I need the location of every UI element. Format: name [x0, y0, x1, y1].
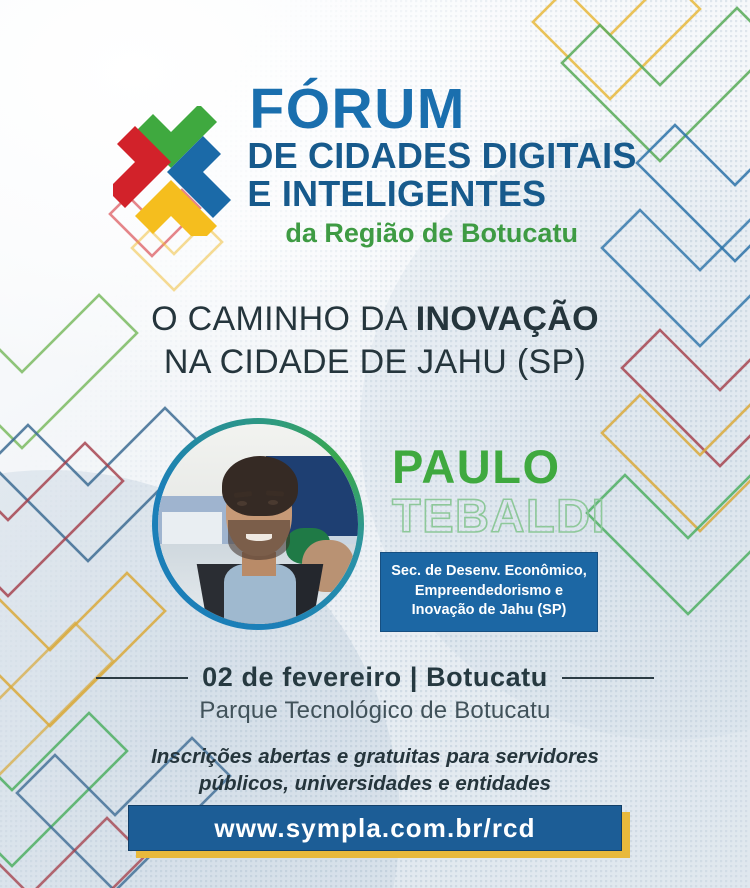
page-title: O CAMINHO DA INOVAÇÃO NA CIDADE DE JAHU … [0, 298, 750, 384]
wordmark: FÓRUM DE CIDADES DIGITAIS E INTELIGENTES… [247, 82, 636, 251]
registration-note: Inscrições abertas e gratuitas para serv… [0, 744, 750, 797]
headline-line-2: NA CIDADE DE JAHU (SP) [0, 341, 750, 384]
headline-emphasis: INOVAÇÃO [416, 300, 599, 338]
registration-note-line-2: públicos, universidades e entidades [0, 771, 750, 798]
brand-header: FÓRUM DE CIDADES DIGITAIS E INTELIGENTES… [0, 82, 750, 251]
headline-line-1: O CAMINHO DA INOVAÇÃO [0, 298, 750, 341]
wordmark-line2: DE CIDADES DIGITAIS [247, 137, 636, 176]
event-date-location: 02 de fevereiro | Botucatu [202, 662, 548, 693]
divider-left [96, 677, 188, 679]
divider-right [562, 677, 654, 679]
avatar [152, 418, 364, 630]
role-line-2: Empreendedorismo e [389, 582, 589, 602]
registration-url-button[interactable]: www.sympla.com.br/rcd [128, 805, 622, 851]
wordmark-forum: FÓRUM [249, 82, 465, 137]
speaker-first-name: PAULO [392, 444, 722, 490]
headline-prefix: O CAMINHO DA [151, 300, 416, 338]
registration-url-wrap[interactable]: www.sympla.com.br/rcd [128, 805, 622, 851]
wordmark-line4: da Região de Botucatu [285, 217, 578, 251]
role-line-3: Inovação de Jahu (SP) [389, 601, 589, 621]
role-line-1: Sec. de Desenv. Econômico, [389, 562, 589, 582]
speaker-name: PAULO TEBALDI [392, 444, 722, 540]
event-venue: Parque Tecnológico de Botucatu [0, 697, 750, 725]
four-chevron-logo-icon [113, 106, 231, 236]
speaker-last-name: TEBALDI [392, 492, 722, 540]
speaker-photo [158, 424, 358, 624]
wordmark-line3: E INTELIGENTES [247, 175, 546, 214]
event-poster: FÓRUM DE CIDADES DIGITAIS E INTELIGENTES… [0, 0, 750, 888]
speaker-block: PAULO TEBALDI Sec. de Desenv. Econômico,… [0, 418, 750, 638]
event-date-row: 02 de fevereiro | Botucatu [0, 662, 750, 693]
registration-note-line-1: Inscrições abertas e gratuitas para serv… [0, 744, 750, 771]
speaker-role-badge: Sec. de Desenv. Econômico, Empreendedori… [380, 552, 598, 632]
